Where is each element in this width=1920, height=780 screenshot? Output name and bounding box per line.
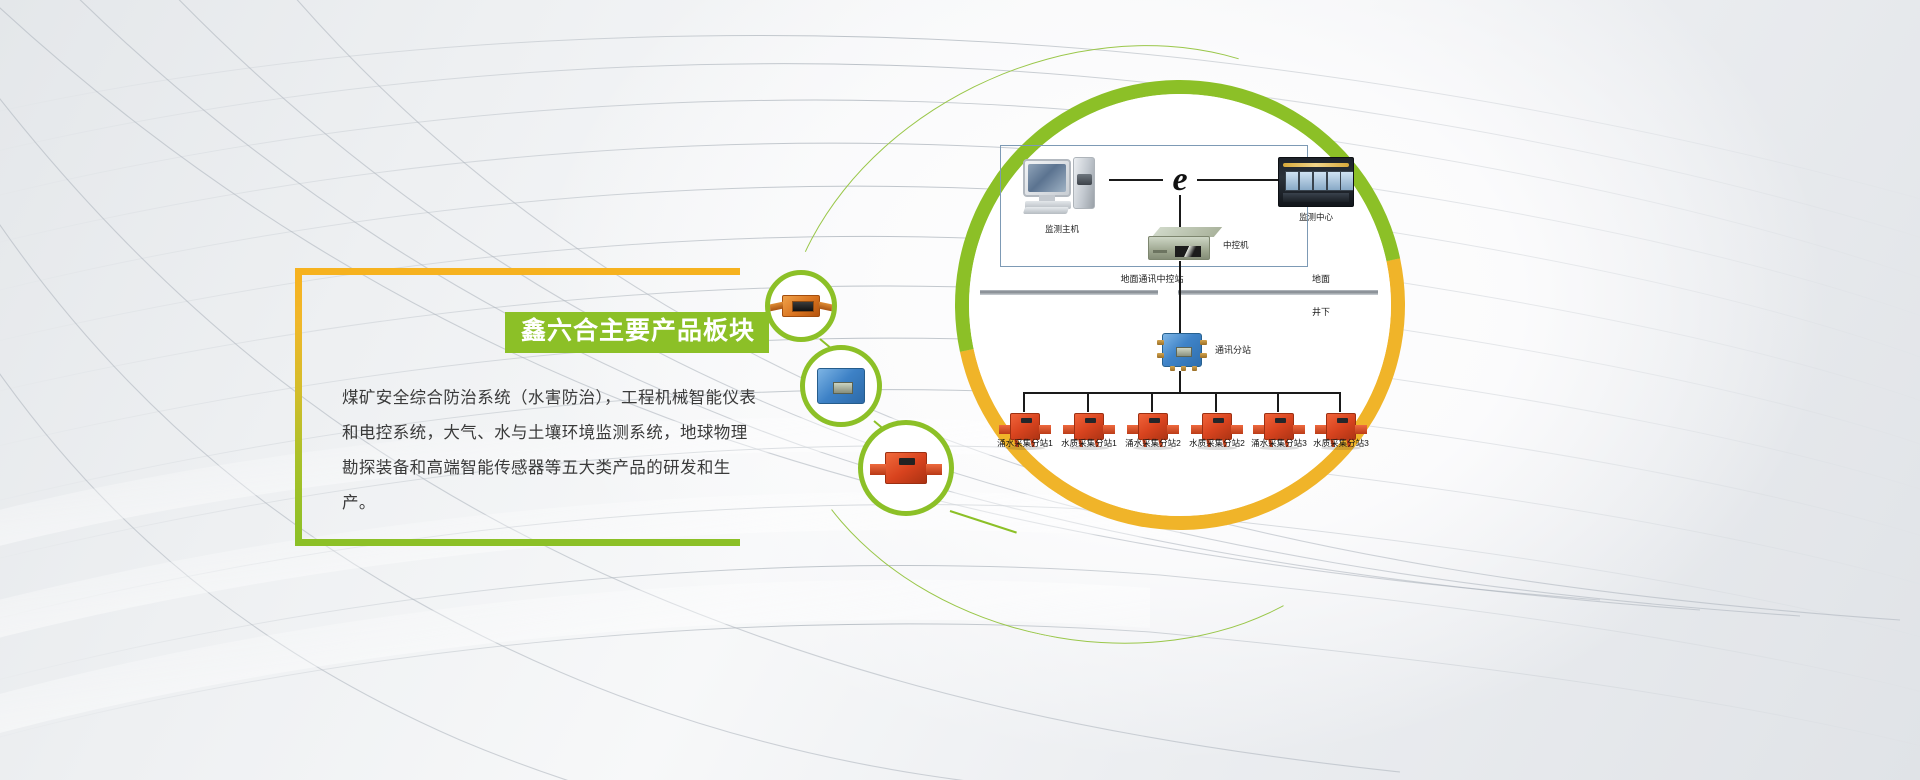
- schematic-content: 监测主机 e 监测中心 中控机 地面通讯中控站 地面: [985, 135, 1385, 475]
- panel-title-bar: 鑫六合主要产品板块: [505, 312, 769, 353]
- wire-network-to-server: [1179, 195, 1181, 229]
- monitor-host-icon: [1023, 157, 1101, 217]
- comm-substation-icon: [1157, 331, 1207, 371]
- system-diagram: 监测主机 e 监测中心 中控机 地面通讯中控站 地面: [930, 80, 1630, 610]
- wire-host-to-network: [1109, 179, 1163, 181]
- wire-server-to-substation: [1179, 261, 1181, 333]
- blue-junction-box-device-icon: [817, 368, 865, 404]
- product-badge-red-device[interactable]: [858, 420, 954, 516]
- ground-line-right: [1178, 290, 1378, 295]
- red-flow-meter-device-icon: [885, 452, 927, 484]
- product-intro-panel: 鑫六合主要产品板块 煤矿安全综合防治系统（水害防治），工程机械智能仪表和电控系统…: [295, 268, 740, 546]
- product-badge-orange-device[interactable]: [765, 270, 837, 342]
- ground-line-left: [980, 290, 1158, 295]
- wire-network-to-center: [1197, 179, 1279, 181]
- orange-explosion-proof-device-icon: [782, 295, 820, 317]
- network-cloud-icon: e: [1163, 163, 1197, 197]
- label-underground: 井下: [1312, 305, 1330, 318]
- label-monitor-host: 监测主机: [1021, 223, 1103, 235]
- panel-body-text: 煤矿安全综合防治系统（水害防治），工程机械智能仪表和电控系统，大气、水与土壤环境…: [342, 381, 760, 521]
- label-surface-control-station: 地面通讯中控站: [1057, 272, 1247, 285]
- label-monitor-center: 监测中心: [1276, 211, 1356, 223]
- station-row: 涌水采集分站1 水质采集分站1 涌水采集分站2 水质采集分站2 涌水采集分站3 …: [985, 393, 1385, 455]
- page-title: 鑫六合主要产品板块: [521, 319, 755, 344]
- panel-body-paragraph: 煤矿安全综合防治系统（水害防治），工程机械智能仪表和电控系统，大气、水与土壤环境…: [342, 381, 760, 521]
- central-control-icon: [1148, 227, 1218, 261]
- product-badge-blue-device[interactable]: [800, 345, 882, 427]
- label-surface: 地面: [1312, 272, 1330, 285]
- label-comm-substation: 通讯分站: [1215, 343, 1251, 356]
- label-central-control: 中控机: [1223, 239, 1249, 251]
- banner-stage: 鑫六合主要产品板块 煤矿安全综合防治系统（水害防治），工程机械智能仪表和电控系统…: [0, 0, 1920, 780]
- station-label: 水质采集分站3: [1303, 437, 1379, 449]
- monitor-center-icon: [1278, 157, 1354, 207]
- wire-substation-to-bus: [1179, 371, 1181, 393]
